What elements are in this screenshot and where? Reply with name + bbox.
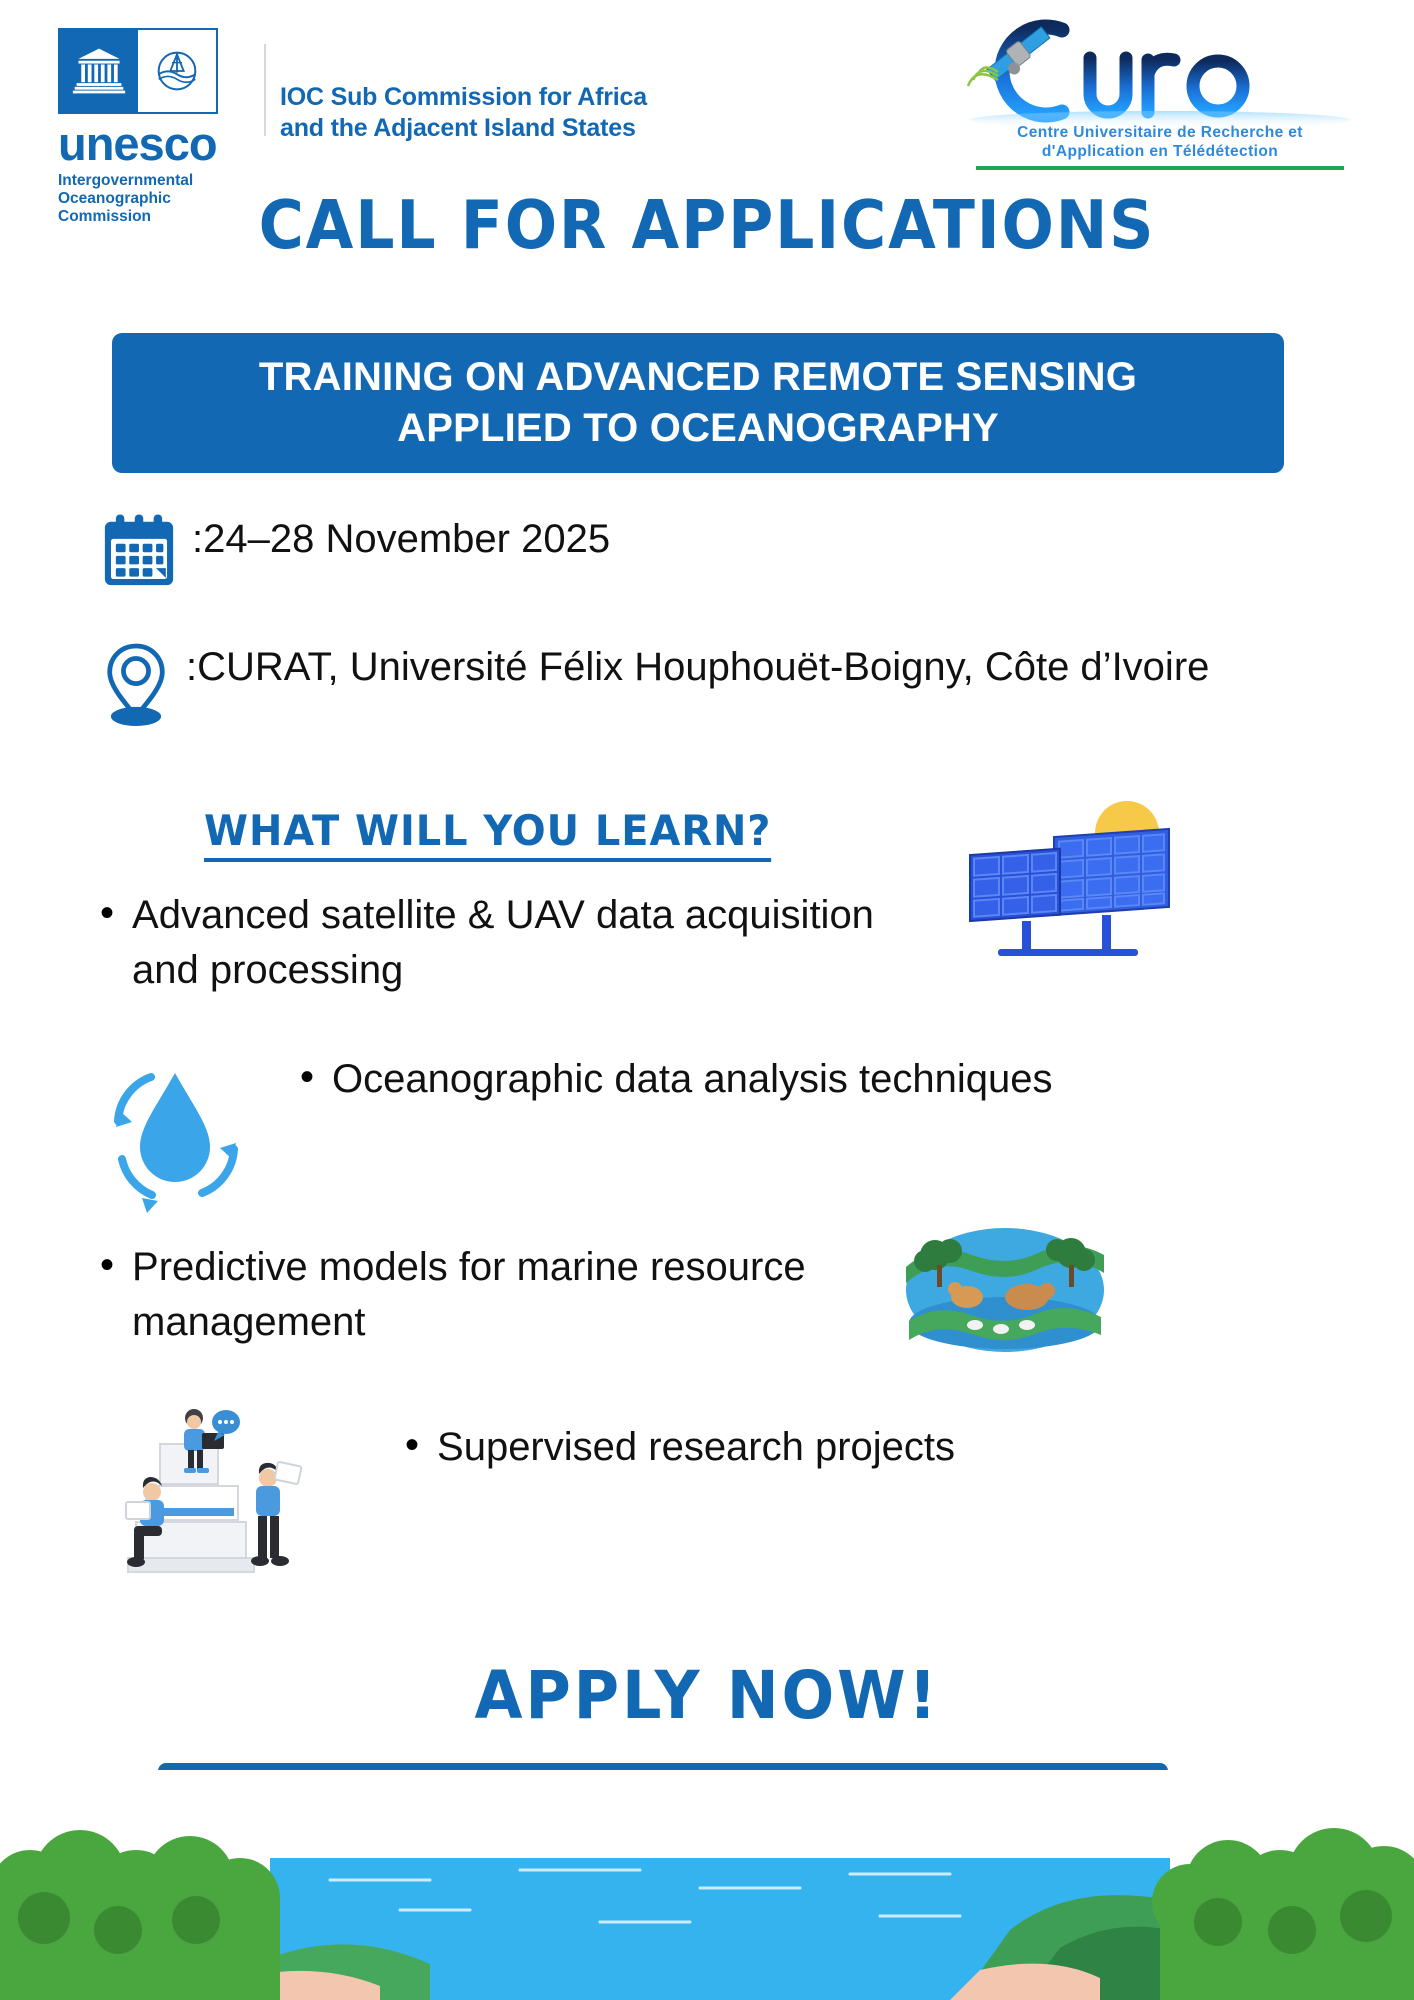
curat-tagline: Centre Universitaire de Recherche et d'A… [950,124,1370,161]
list-item: • Oceanographic data analysis techniques [300,1052,1090,1107]
curat-wordmark [950,16,1370,126]
poster-canvas: unesco Intergovernmental Oceanographic C… [0,0,1414,2000]
satellite-signal-icon [968,67,998,86]
date-row: :24–28 November 2025 [100,512,1280,595]
bullet-text: Oceanographic data analysis techniques [332,1052,1052,1107]
solar-panel-icon [962,795,1192,975]
chat-bubble-icon [212,1410,240,1441]
date-text: :24–28 November 2025 [192,512,610,566]
ioc-title-line-1: IOC Sub Commission for Africa [280,82,647,113]
page-title: CALL FOR APPLICATIONS [57,186,1358,264]
list-item: • Advanced satellite & UAV data acquisit… [100,888,890,998]
header-divider [264,44,266,136]
list-item: • Supervised research projects [405,1420,1025,1475]
poster-header: unesco Intergovernmental Oceanographic C… [0,0,1414,185]
curat-tagline-line-2: d'Application en Télédétection [950,143,1370,162]
location-pin-icon [100,640,172,731]
bullet-marker: • [100,1240,114,1290]
location-text: :CURAT, Université Félix Houphouët-Boign… [186,640,1209,694]
apply-now-heading: APPLY NOW! [42,1657,1371,1734]
unesco-wordmark: unesco [58,120,248,167]
curat-logo-block: Centre Universitaire de Recherche et d'A… [950,16,1370,170]
research-team-icon [98,1400,348,1585]
ioc-subcommission-title: IOC Sub Commission for Africa and the Ad… [280,82,647,143]
water-cycle-icon [98,1055,253,1220]
bullet-marker: • [300,1052,314,1102]
list-item: • Predictive models for marine resource … [100,1240,860,1350]
banner-line-2: APPLIED TO OCEANOGRAPHY [259,403,1137,454]
bullet-text: Advanced satellite & UAV data acquisitio… [132,888,890,998]
ioc-title-line-2: and the Adjacent Island States [280,113,647,144]
training-title-banner: TRAINING ON ADVANCED REMOTE SENSING APPL… [112,333,1284,473]
bullet-text: Predictive models for marine resource ma… [132,1240,860,1350]
bullet-marker: • [100,888,114,938]
ioc-emblem-icon [138,30,216,112]
unesco-emblem [58,28,218,114]
banner-text: TRAINING ON ADVANCED REMOTE SENSING APPL… [235,352,1161,454]
curat-underline-rule [976,166,1344,170]
coastal-landscape-illustration [0,1770,1414,2000]
banner-line-1: TRAINING ON ADVANCED REMOTE SENSING [259,352,1137,403]
learn-heading: WHAT WILL YOU LEARN? [204,806,771,862]
person-right [251,1462,302,1566]
bullet-text: Supervised research projects [437,1420,955,1475]
bullet-marker: • [405,1420,419,1470]
calendar-icon [100,512,178,595]
location-row: :CURAT, Université Félix Houphouët-Boign… [100,640,1350,731]
unesco-temple-icon [60,30,138,112]
ecosystem-icon [905,1225,1105,1360]
